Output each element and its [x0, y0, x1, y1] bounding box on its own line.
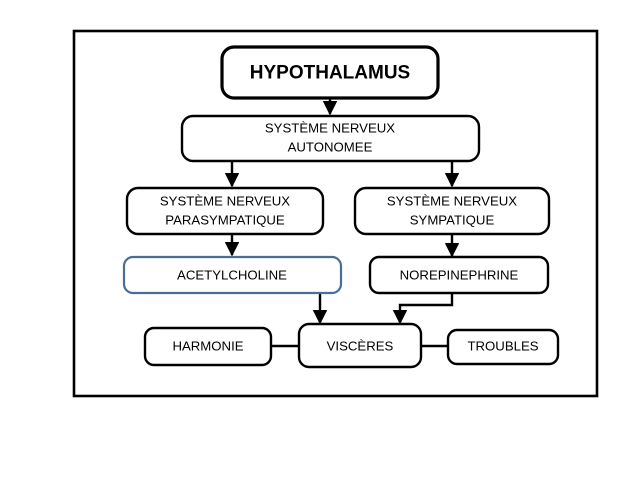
- node-norepinephrine[interactable]: NOREPINEPHRINE: [370, 257, 548, 293]
- node-norepinephrine-label: NOREPINEPHRINE: [400, 267, 519, 282]
- node-hypothalamus-label: HYPOTHALAMUS: [250, 63, 410, 84]
- node-systeme-nerveux-parasympathique-label-line2: PARASYMPATIQUE: [165, 212, 285, 227]
- node-systeme-nerveux-sympathique-label-line2: SYMPATIQUE: [410, 212, 495, 227]
- node-acetylcholine-label: ACETYLCHOLINE: [177, 267, 287, 282]
- node-systeme-nerveux-autonome-label-line1: SYSTÈME NERVEUX: [265, 120, 395, 135]
- node-visceres-label: VISCÈRES: [327, 338, 394, 353]
- node-systeme-nerveux-autonome-label-line2: AUTONOMEE: [288, 139, 373, 154]
- node-systeme-nerveux-parasympathique-label-line1: SYSTÈME NERVEUX: [160, 193, 290, 208]
- node-systeme-nerveux-parasympathique[interactable]: SYSTÈME NERVEUX PARASYMPATIQUE: [127, 188, 323, 234]
- node-troubles-label: TROUBLES: [467, 338, 538, 353]
- node-harmonie[interactable]: HARMONIE: [145, 328, 271, 365]
- flowchart-diagram: HYPOTHALAMUS SYSTÈME NERVEUX AUTONOMEE S…: [0, 0, 640, 480]
- node-systeme-nerveux-sympathique[interactable]: SYSTÈME NERVEUX SYMPATIQUE: [355, 188, 549, 234]
- node-harmonie-label: HARMONIE: [172, 338, 243, 353]
- connector-norepinephrine-to-visceres: [400, 293, 452, 323]
- node-acetylcholine[interactable]: ACETYLCHOLINE: [124, 257, 341, 293]
- node-troubles[interactable]: TROUBLES: [448, 330, 558, 364]
- node-systeme-nerveux-sympathique-label-line1: SYSTÈME NERVEUX: [387, 193, 517, 208]
- diagram-canvas: HYPOTHALAMUS SYSTÈME NERVEUX AUTONOMEE S…: [0, 0, 640, 480]
- node-visceres[interactable]: VISCÈRES: [299, 324, 421, 367]
- node-hypothalamus[interactable]: HYPOTHALAMUS: [222, 47, 438, 98]
- node-systeme-nerveux-autonome[interactable]: SYSTÈME NERVEUX AUTONOMEE: [182, 116, 479, 161]
